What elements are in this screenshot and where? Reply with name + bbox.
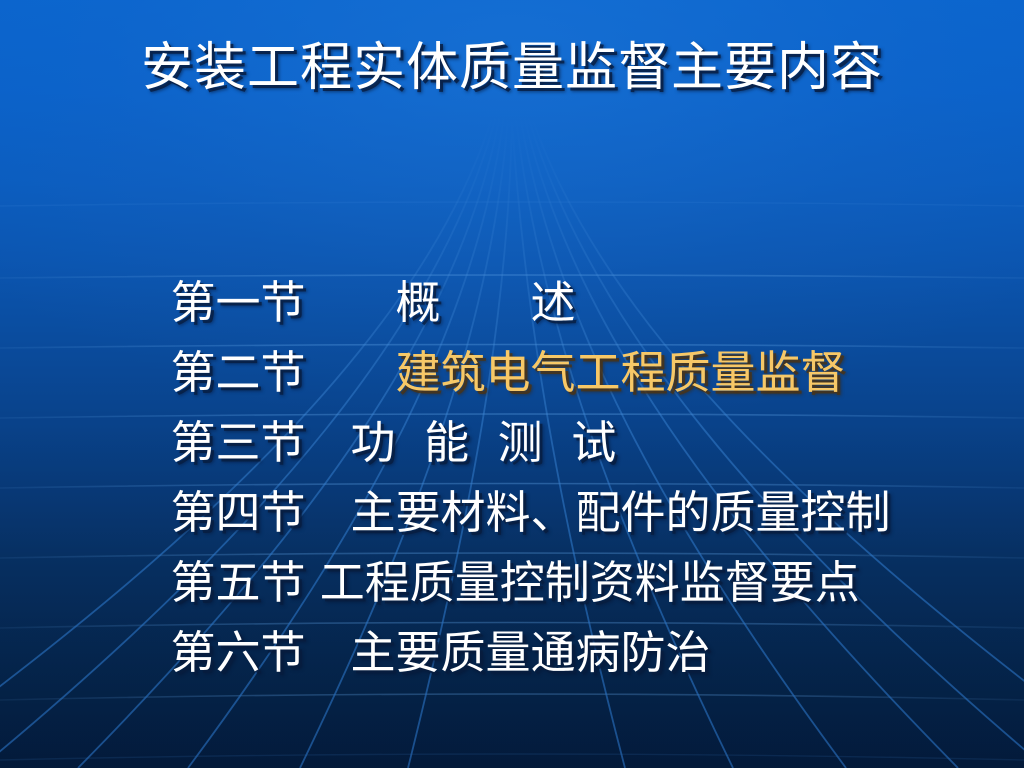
section-label-6: 第六节 — [170, 626, 305, 679]
section-gap-2 — [305, 346, 395, 399]
section-label-2: 第二节 — [170, 346, 305, 399]
section-gap-1 — [305, 276, 395, 329]
section-text-1: 概 述 — [395, 276, 575, 329]
section-label-4: 第四节 — [170, 486, 305, 539]
outline-list: 第一节 概 述 第二节 建筑电气工程质量监督 第三节 功 能 测 试 第四节 主… — [56, 198, 1006, 618]
section-label-5: 第五节 — [170, 556, 305, 609]
section-gap-3 — [305, 416, 350, 469]
section-text-4: 主要材料、配件的质量控制 — [350, 486, 890, 539]
section-text-2: 建筑电气工程质量监督 — [395, 346, 845, 399]
section-gap-6 — [305, 626, 350, 679]
section-label-1: 第一节 — [170, 276, 305, 329]
section-text-6: 主要质量通病防治 — [350, 626, 710, 679]
section-text-3: 功 能 测 试 — [350, 416, 616, 469]
section-label-3: 第三节 — [170, 416, 305, 469]
slide-content: 安装工程实体质量监督主要内容 第一节 概 述 第二节 建筑电气工程质量监督 第三… — [0, 0, 1024, 768]
section-gap-4 — [305, 486, 350, 539]
section-gap-5 — [305, 556, 319, 609]
presentation-slide: 安装工程实体质量监督主要内容 第一节 概 述 第二节 建筑电气工程质量监督 第三… — [0, 0, 1024, 768]
slide-title: 安装工程实体质量监督主要内容 — [0, 37, 1024, 99]
section-text-5: 工程质量控制资料监督要点 — [320, 556, 860, 609]
outline-item-1: 第一节 概 述 — [56, 198, 1006, 268]
